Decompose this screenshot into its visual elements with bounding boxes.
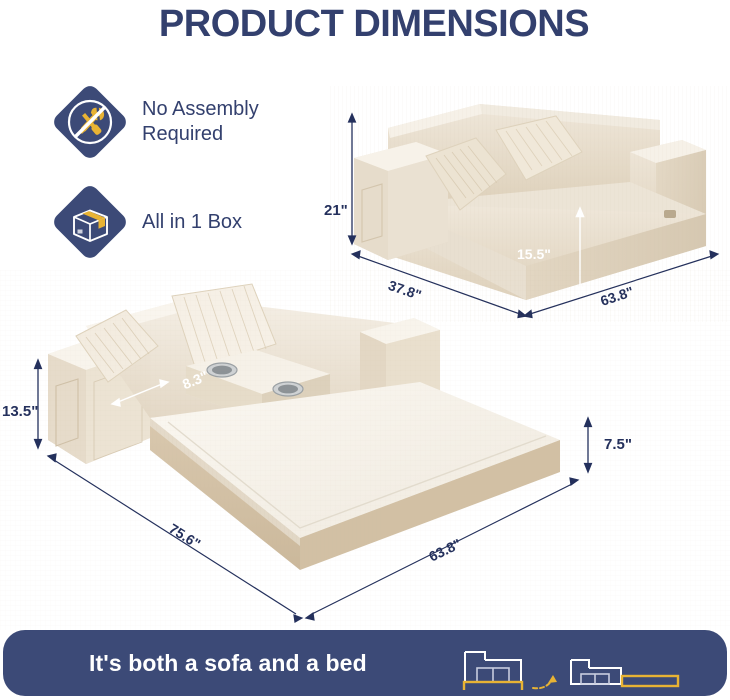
feature-all-in-one-box: All in 1 Box: [52, 184, 242, 260]
box-icon: [52, 184, 128, 260]
no-assembly-icon: [52, 84, 128, 160]
feature-label: No Assembly Required: [142, 97, 259, 147]
page-title: PRODUCT DIMENSIONS: [0, 0, 730, 48]
dim-sofa-total-height: 21": [324, 202, 348, 219]
feature-no-assembly: No Assembly Required: [52, 84, 259, 160]
feature-label: All in 1 Box: [142, 210, 242, 235]
dim-sofa-seat-height: 15.5": [517, 246, 551, 262]
dim-bed-backrest-height: 13.5": [2, 403, 38, 420]
sofa-bed-banner: It's both a sofa and a bed: [3, 630, 727, 696]
bed-configuration: 13.5" 8.3" 7.5" 75.6" 63.8": [0, 270, 730, 630]
curved-arrow-icon: [533, 675, 557, 688]
bed-icon: [571, 660, 621, 684]
sofa-icon: [465, 652, 521, 682]
dim-bed-mattress-height: 7.5": [604, 436, 632, 453]
product-dimensions-infographic: PRODUCT DIMENSIONS: [0, 0, 730, 700]
banner-text: It's both a sofa and a bed: [89, 650, 367, 677]
